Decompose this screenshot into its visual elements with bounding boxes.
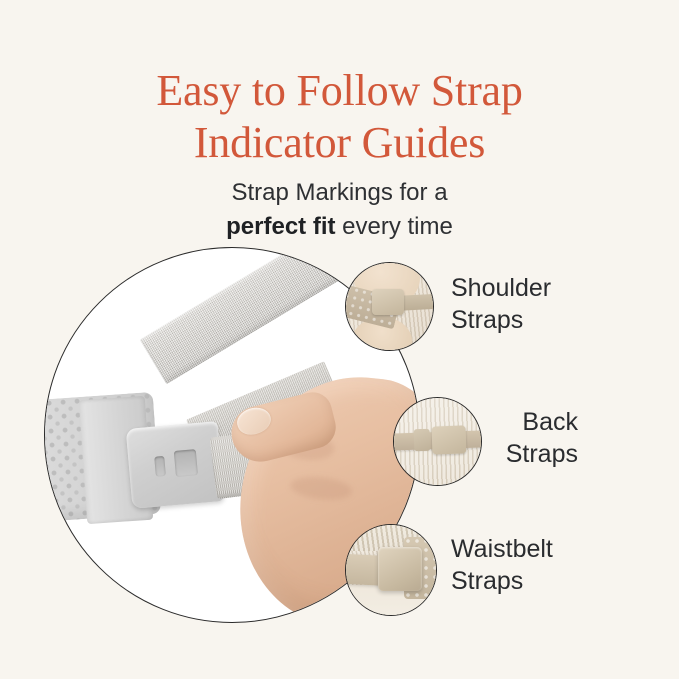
callout-label-shoulder: Shoulder Straps	[451, 272, 551, 336]
buckle-slot-large	[174, 449, 198, 477]
callout-label-shoulder-line-2: Straps	[451, 304, 551, 336]
detail-shoulder-content	[345, 262, 434, 351]
subtitle-line-1: Strap Markings for a	[231, 179, 447, 206]
page-title: Easy to Follow Strap Indicator Guides	[0, 65, 679, 169]
headline-line-1: Easy to Follow Strap	[156, 66, 522, 115]
knuckle-crease-2	[289, 474, 353, 502]
headline-line-2: Indicator Guides	[0, 117, 679, 169]
page-subtitle: Strap Markings for a perfect fit every t…	[0, 176, 679, 244]
callout-label-back: Back Straps	[420, 406, 578, 470]
detail-waistbelt-content	[345, 524, 437, 616]
subtitle-emphasis: perfect fit	[226, 213, 335, 240]
detail-circle-waistbelt	[345, 524, 437, 616]
callout-label-back-line-1: Back	[522, 408, 578, 436]
detail-circle-shoulder	[345, 262, 434, 351]
waistbelt-buckle	[378, 547, 422, 591]
subtitle-line-2-rest: every time	[335, 213, 452, 240]
callout-label-waistbelt-line-2: Straps	[451, 565, 553, 597]
shoulder-buckle	[372, 289, 404, 315]
subtitle-line-2: perfect fit every time	[0, 210, 679, 244]
callout-label-waistbelt: Waistbelt Straps	[451, 533, 553, 597]
buckle-body	[126, 421, 225, 509]
buckle-slot-small	[154, 456, 166, 477]
callout-label-waistbelt-line-1: Waistbelt	[451, 535, 553, 563]
infographic-canvas: Easy to Follow Strap Indicator Guides St…	[0, 0, 679, 679]
callout-label-shoulder-line-1: Shoulder	[451, 274, 551, 302]
callout-label-back-line-2: Straps	[420, 438, 578, 470]
